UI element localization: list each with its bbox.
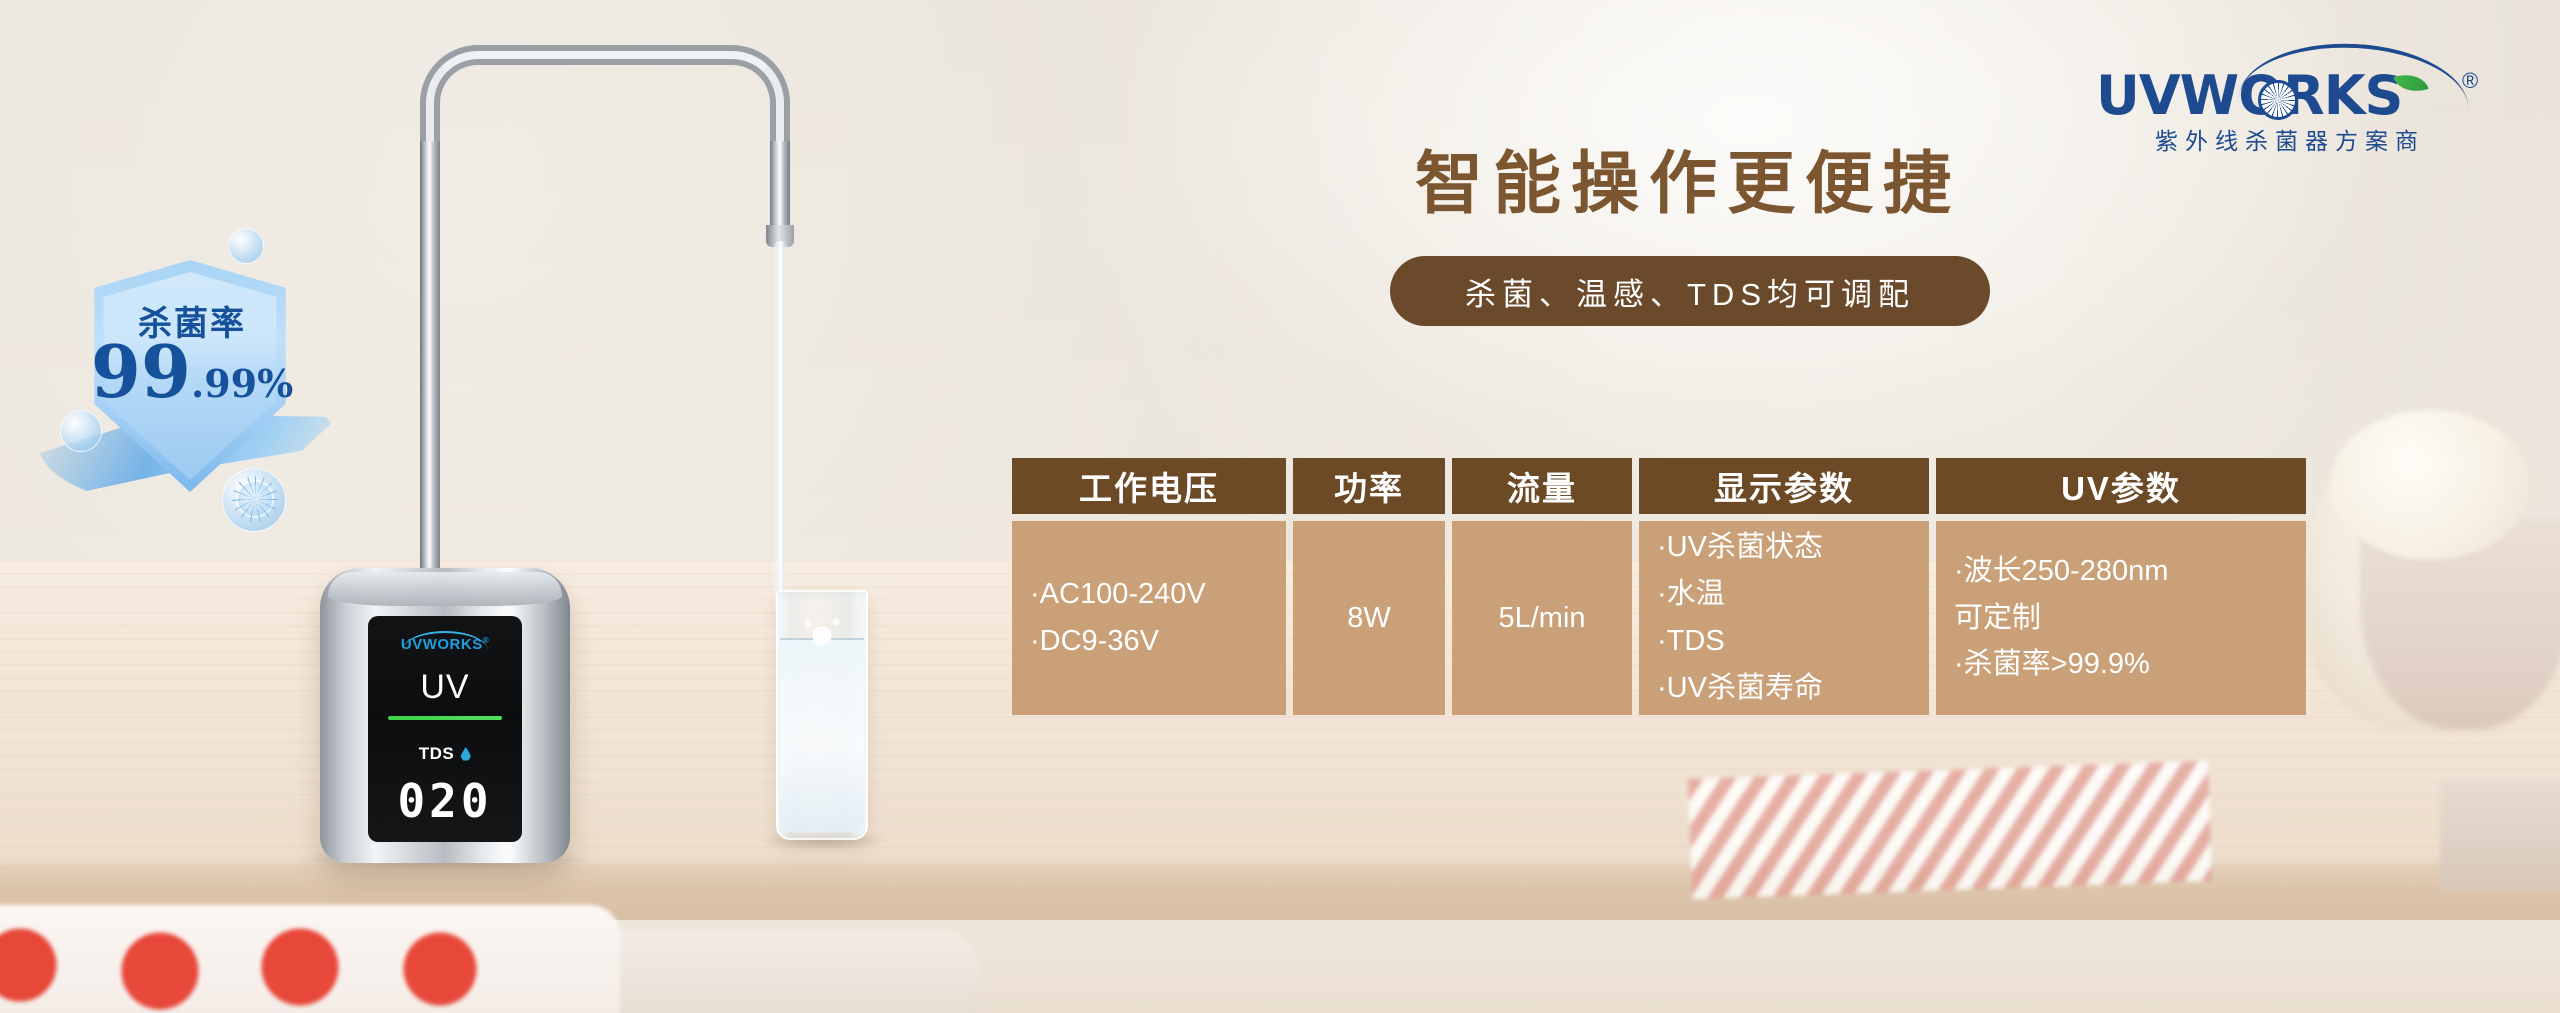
bubble-icon-1: [228, 228, 264, 264]
spec-line: ·波长250-280nm: [1954, 548, 2168, 595]
spec-line: ·AC100-240V: [1030, 571, 1206, 618]
spec-header-flow: 流量: [1452, 458, 1632, 514]
spec-line: 8W: [1347, 595, 1391, 642]
page-title: 智能操作更便捷: [1368, 128, 2008, 227]
screen-brand-registered: ®: [483, 636, 489, 645]
screen-brand-text: UVWORKS: [401, 636, 483, 653]
device-screen: UVWORKS® UV TDS 020: [368, 616, 522, 842]
screen-tds-value: 020: [368, 774, 522, 828]
spec-cell-voltage: ·AC100-240V ·DC9-36V: [1012, 521, 1286, 715]
spec-line: ·UV杀菌寿命: [1657, 665, 1823, 712]
germ-icon: [238, 482, 272, 516]
spec-line: ·DC9-36V: [1030, 618, 1159, 665]
faucet-right-column: [770, 141, 790, 233]
spec-line: ·TDS: [1657, 618, 1725, 665]
spec-column-uv: UV参数 ·波长250-280nm 可定制 ·杀菌率>99.9%: [1936, 458, 2306, 715]
spec-cell-power: 8W: [1293, 521, 1445, 715]
kill-rate-badge: 杀菌率 99.99%: [52, 250, 332, 520]
bubble-icon-2: [60, 410, 102, 452]
uv-sterilizer-device: UVWORKS® UV TDS 020: [320, 568, 570, 863]
spec-column-voltage: 工作电压 ·AC100-240V ·DC9-36V: [1012, 458, 1286, 715]
spec-table: 工作电压 ·AC100-240V ·DC9-36V 功率 8W 流量 5L/mi…: [1012, 458, 2392, 715]
screen-brand-logo: UVWORKS®: [368, 636, 522, 653]
faucet-left-column: [420, 141, 440, 593]
water-glass: [776, 590, 868, 840]
screen-tds-row: TDS: [368, 744, 522, 764]
spec-column-display: 显示参数 ·UV杀菌状态 ·水温 ·TDS ·UV杀菌寿命: [1639, 458, 1929, 715]
banner-stage: UVWORKS® UV TDS 020 杀菌率 99.99%: [0, 0, 2560, 1013]
spec-header-voltage: 工作电压: [1012, 458, 1286, 514]
spec-line: ·杀菌率>99.9%: [1954, 641, 2150, 688]
feature-pill: 杀菌、温感、TDS均可调配: [1390, 256, 1990, 326]
device-top-cap: [328, 572, 562, 606]
spec-column-power: 功率 8W: [1293, 458, 1445, 715]
screen-tds-label: TDS: [419, 744, 455, 763]
brand-logo: UVWORKS ® 紫外线杀菌器方案商: [2090, 38, 2490, 158]
spec-line: 可定制: [1954, 595, 2041, 642]
brand-tagline: 紫外线杀菌器方案商: [2098, 122, 2482, 156]
plate-prop: [560, 930, 980, 1013]
spec-line: ·水温: [1657, 571, 1725, 618]
screen-status-bar: [388, 716, 502, 720]
faucet-arm: [420, 45, 790, 165]
spec-line: 5L/min: [1498, 595, 1585, 642]
brand-registered-mark: ®: [2462, 68, 2478, 94]
spec-line: ·UV杀菌状态: [1657, 524, 1823, 571]
spec-cell-uv: ·波长250-280nm 可定制 ·杀菌率>99.9%: [1936, 521, 2306, 715]
spec-header-uv: UV参数: [1936, 458, 2306, 514]
spec-cell-display: ·UV杀菌状态 ·水温 ·TDS ·UV杀菌寿命: [1639, 521, 1929, 715]
water-droplet-icon: [460, 747, 471, 761]
spec-column-flow: 流量 5L/min: [1452, 458, 1632, 715]
screen-uv-status: UV: [368, 668, 522, 707]
water-stream: [774, 241, 787, 647]
spec-header-power: 功率: [1293, 458, 1445, 514]
glass-water: [780, 638, 864, 832]
checkered-towel-prop: [1688, 761, 2212, 899]
badge-value: 99.99%: [52, 336, 332, 408]
faucet: [420, 45, 800, 585]
water-splash: [798, 608, 846, 648]
spec-header-display: 显示参数: [1639, 458, 1929, 514]
badge-value-major: 99: [91, 329, 191, 414]
right-box-prop: [2440, 780, 2560, 890]
badge-value-minor: .99%: [191, 361, 293, 406]
polka-dot-cloth-prop: [0, 905, 620, 1013]
spec-cell-flow: 5L/min: [1452, 521, 1632, 715]
feature-pill-label: 杀菌、温感、TDS均可调配: [1465, 269, 1915, 314]
logo-sunburst-icon: [2258, 80, 2298, 120]
